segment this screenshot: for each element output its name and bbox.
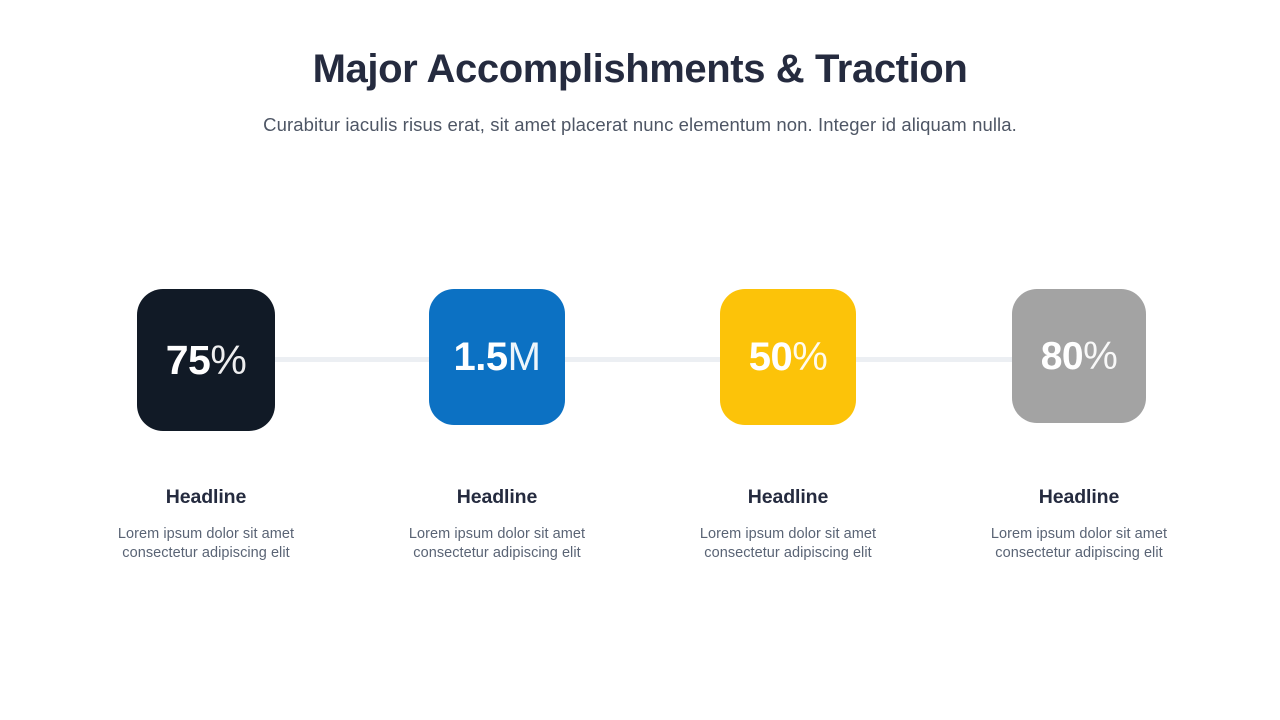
slide-canvas: Major Accomplishments & Traction Curabit… xyxy=(0,0,1280,720)
caption-headline-4: Headline xyxy=(974,484,1184,510)
captions-row: Headline Lorem ipsum dolor sit amet cons… xyxy=(0,484,1280,604)
caption-block-1: Headline Lorem ipsum dolor sit amet cons… xyxy=(101,484,311,563)
slide-subtitle: Curabitur iaculis risus erat, sit amet p… xyxy=(0,94,1280,138)
stat-unit-1: % xyxy=(210,337,246,383)
caption-body-3: Lorem ipsum dolor sit amet consectetur a… xyxy=(683,510,893,563)
slide-header: Major Accomplishments & Traction Curabit… xyxy=(0,44,1280,138)
stat-value-3: 50% xyxy=(749,337,828,377)
stat-number-2: 1.5 xyxy=(454,335,508,379)
stat-value-1: 75% xyxy=(166,340,247,381)
caption-headline-3: Headline xyxy=(683,484,893,510)
caption-body-2: Lorem ipsum dolor sit amet consectetur a… xyxy=(392,510,602,563)
stat-number-4: 80 xyxy=(1041,335,1083,378)
stat-card-1[interactable]: 75% xyxy=(137,289,275,431)
caption-headline-1: Headline xyxy=(101,484,311,510)
stat-unit-4: % xyxy=(1083,335,1117,378)
caption-block-4: Headline Lorem ipsum dolor sit amet cons… xyxy=(974,484,1184,563)
stat-card-4[interactable]: 80% xyxy=(1012,289,1146,423)
stat-unit-2: M xyxy=(508,335,541,379)
connector-line xyxy=(205,357,1080,362)
caption-block-3: Headline Lorem ipsum dolor sit amet cons… xyxy=(683,484,893,563)
stat-unit-3: % xyxy=(792,335,827,379)
stat-card-3[interactable]: 50% xyxy=(720,289,856,425)
caption-headline-2: Headline xyxy=(392,484,602,510)
stat-value-4: 80% xyxy=(1041,337,1118,376)
caption-block-2: Headline Lorem ipsum dolor sit amet cons… xyxy=(392,484,602,563)
caption-body-1: Lorem ipsum dolor sit amet consectetur a… xyxy=(101,510,311,563)
stat-card-2[interactable]: 1.5M xyxy=(429,289,565,425)
stat-number-3: 50 xyxy=(749,335,793,379)
stat-value-2: 1.5M xyxy=(454,337,541,377)
caption-body-4: Lorem ipsum dolor sit amet consectetur a… xyxy=(974,510,1184,563)
stats-row: 75% 1.5M 50% 80% xyxy=(0,289,1280,434)
stat-number-1: 75 xyxy=(166,337,211,383)
page-title: Major Accomplishments & Traction xyxy=(0,44,1280,94)
